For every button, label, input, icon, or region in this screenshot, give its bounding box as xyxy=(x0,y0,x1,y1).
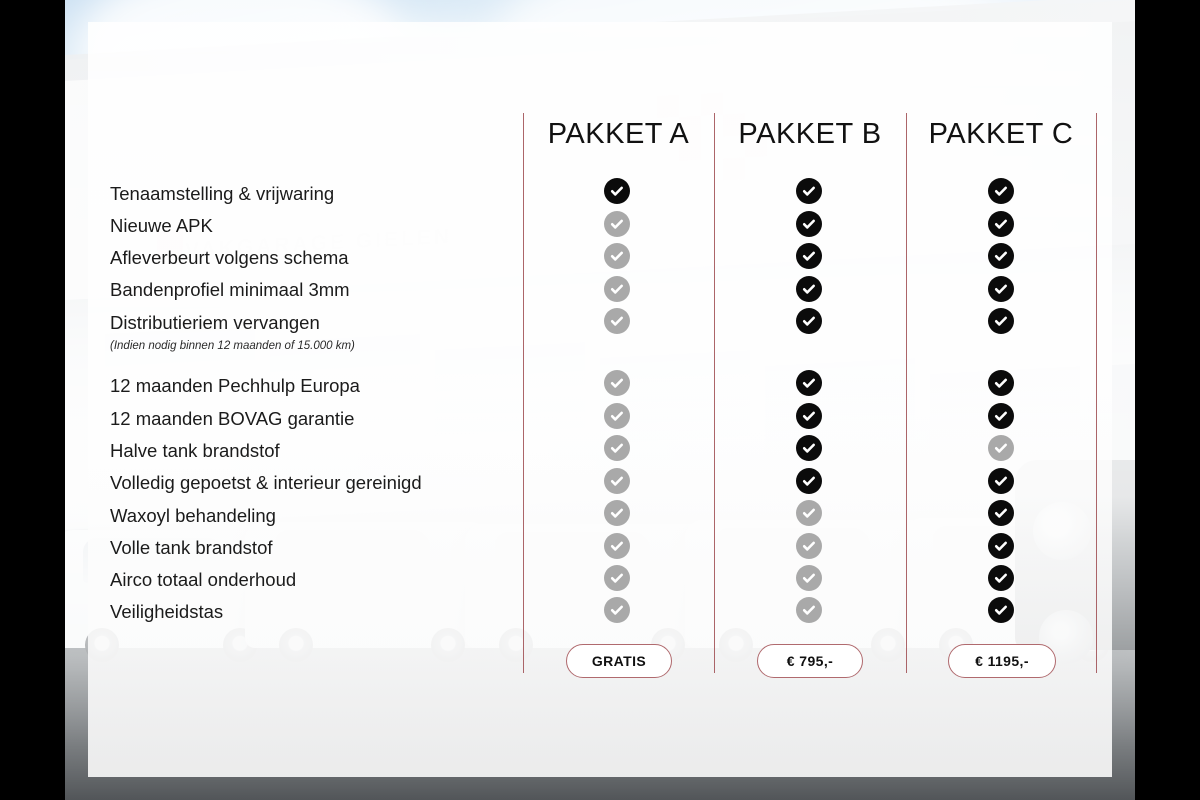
check-included-icon xyxy=(988,565,1014,591)
check-included-icon xyxy=(796,243,822,269)
check-included-icon xyxy=(988,468,1014,494)
check-excluded-icon xyxy=(988,435,1014,461)
column-divider xyxy=(523,113,524,673)
check-excluded-icon xyxy=(604,500,630,526)
feature-label: Airco totaal onderhoud xyxy=(110,571,296,590)
feature-label: 12 maanden BOVAG garantie xyxy=(110,410,354,429)
check-excluded-icon xyxy=(604,308,630,334)
check-included-icon xyxy=(988,211,1014,237)
check-included-icon xyxy=(988,370,1014,396)
check-included-icon xyxy=(796,211,822,237)
letterbox-bar-right xyxy=(1135,0,1200,800)
feature-label: Volledig gepoetst & interieur gereinigd xyxy=(110,474,422,493)
check-included-icon xyxy=(796,403,822,429)
check-excluded-icon xyxy=(604,533,630,559)
column-header-a: PAKKET A xyxy=(523,118,714,151)
check-included-icon xyxy=(988,500,1014,526)
check-included-icon xyxy=(796,435,822,461)
check-excluded-icon xyxy=(604,435,630,461)
feature-label: Nieuwe APK xyxy=(110,217,213,236)
check-excluded-icon xyxy=(604,276,630,302)
check-included-icon xyxy=(988,403,1014,429)
price-pill-c[interactable]: € 1195,- xyxy=(948,644,1056,678)
check-excluded-icon xyxy=(604,597,630,623)
check-excluded-icon xyxy=(604,370,630,396)
check-included-icon xyxy=(796,178,822,204)
check-included-icon xyxy=(796,276,822,302)
check-included-icon xyxy=(988,308,1014,334)
column-header-c: PAKKET C xyxy=(906,118,1096,151)
feature-label: Afleverbeurt volgens schema xyxy=(110,249,349,268)
check-excluded-icon xyxy=(604,468,630,494)
feature-label: Bandenprofiel minimaal 3mm xyxy=(110,281,350,300)
check-excluded-icon xyxy=(796,565,822,591)
check-included-icon xyxy=(988,276,1014,302)
check-included-icon xyxy=(988,243,1014,269)
column-header-b: PAKKET B xyxy=(714,118,906,151)
feature-label: Volle tank brandstof xyxy=(110,539,273,558)
column-divider xyxy=(1096,113,1097,673)
feature-label: Halve tank brandstof xyxy=(110,442,280,461)
check-included-icon xyxy=(988,597,1014,623)
check-excluded-icon xyxy=(796,533,822,559)
check-included-icon xyxy=(988,533,1014,559)
feature-label: Veiligheidstas xyxy=(110,603,223,622)
check-included-icon xyxy=(796,308,822,334)
feature-label: Distributieriem vervangen xyxy=(110,314,320,333)
column-divider xyxy=(714,113,715,673)
check-excluded-icon xyxy=(604,211,630,237)
check-included-icon xyxy=(796,370,822,396)
check-included-icon xyxy=(988,178,1014,204)
column-divider xyxy=(906,113,907,673)
check-included-icon xyxy=(796,468,822,494)
feature-note: (Indien nodig binnen 12 maanden of 15.00… xyxy=(110,340,355,352)
check-excluded-icon xyxy=(604,565,630,591)
feature-label: Tenaamstelling & vrijwaring xyxy=(110,185,334,204)
check-excluded-icon xyxy=(796,500,822,526)
check-excluded-icon xyxy=(604,403,630,429)
feature-label: 12 maanden Pechhulp Europa xyxy=(110,377,360,396)
feature-label: Waxoyl behandeling xyxy=(110,507,276,526)
screenshot-root: VAKGARAGE GIELEN PAKKET A PAKKET B P xyxy=(0,0,1200,800)
check-excluded-icon xyxy=(604,243,630,269)
check-included-icon xyxy=(604,178,630,204)
price-pill-b[interactable]: € 795,- xyxy=(757,644,863,678)
price-pill-a[interactable]: GRATIS xyxy=(566,644,672,678)
check-excluded-icon xyxy=(796,597,822,623)
letterbox-bar-left xyxy=(0,0,65,800)
